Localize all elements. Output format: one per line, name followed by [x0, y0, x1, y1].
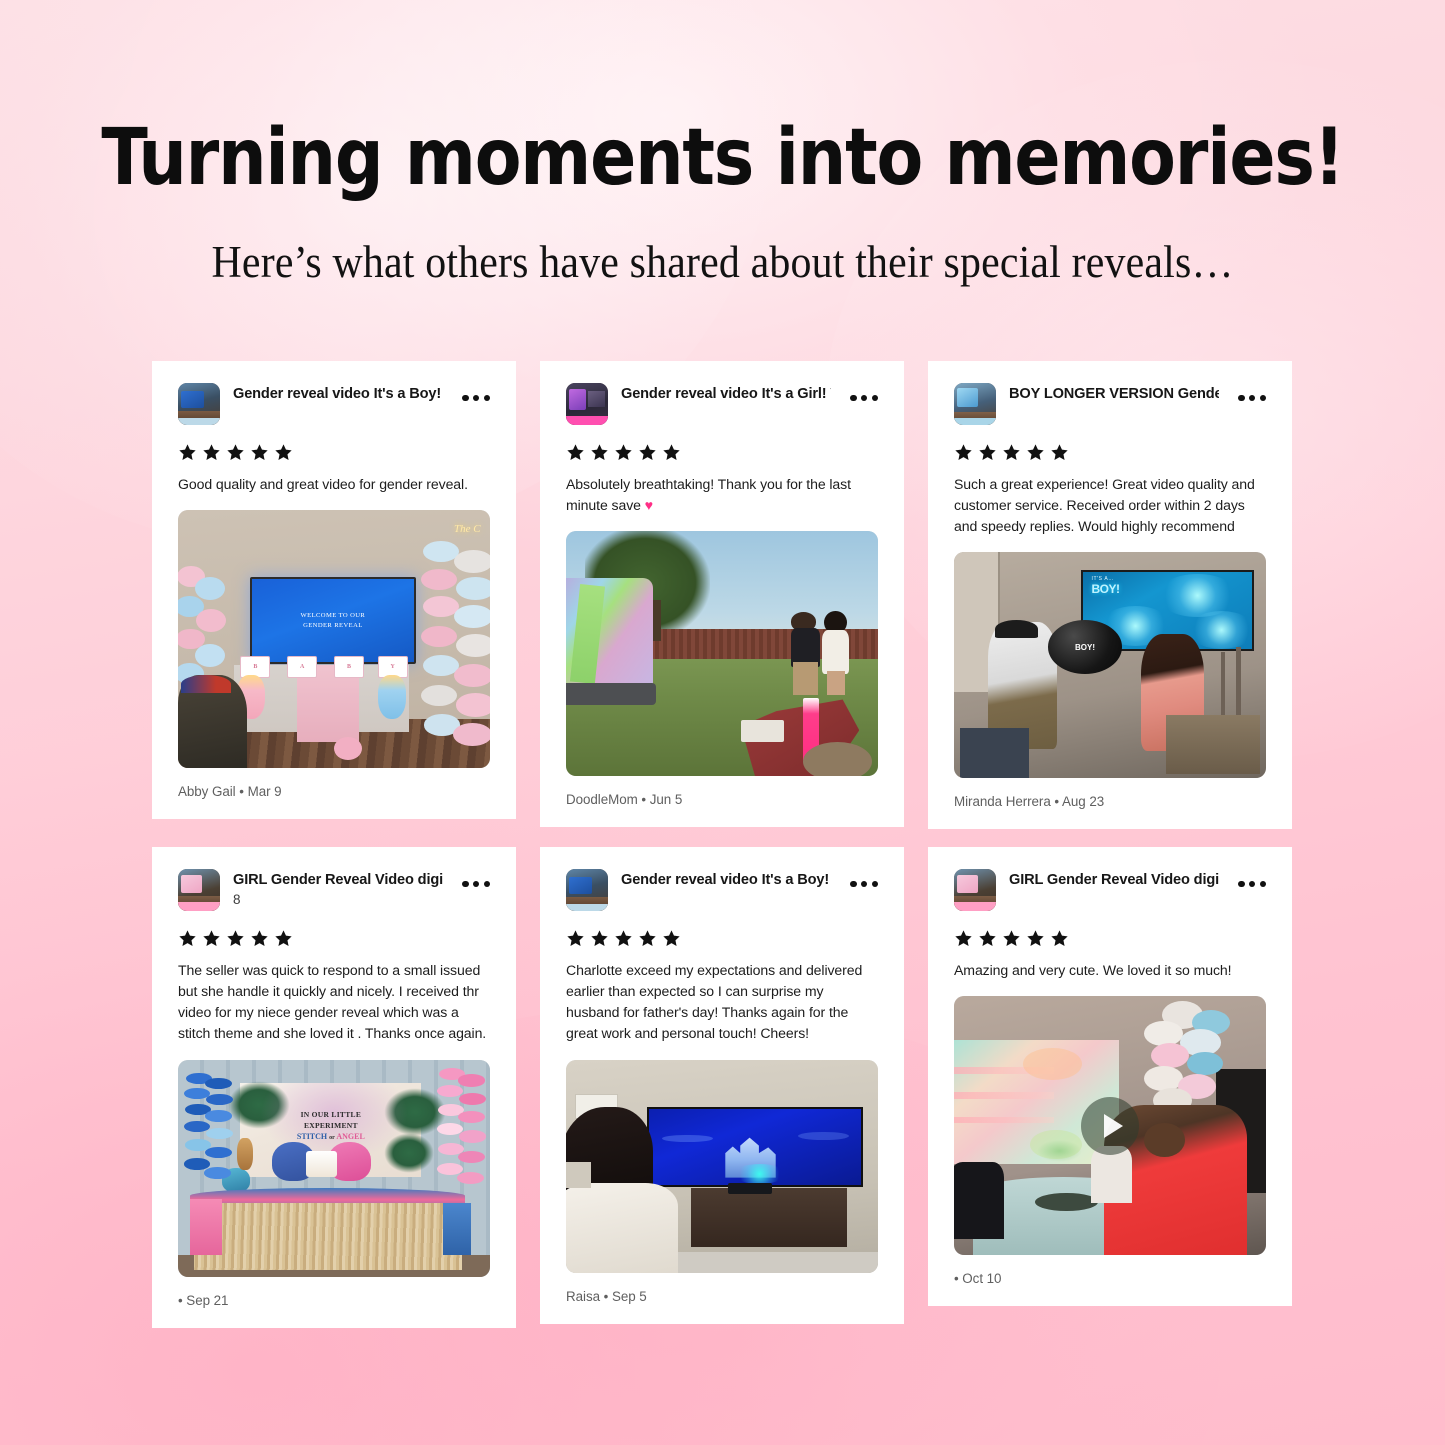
review-meta: Abby Gail • Mar 9	[178, 784, 490, 799]
star-icon	[274, 443, 293, 462]
three-dots-icon[interactable]	[456, 383, 490, 401]
three-dots-icon[interactable]	[844, 869, 878, 887]
star-icon	[1002, 929, 1021, 948]
play-icon[interactable]	[1081, 1097, 1139, 1155]
product-thumbnail	[954, 383, 996, 425]
star-icon	[978, 929, 997, 948]
product-title: Gender reveal video It's a Girl! Vide…	[621, 385, 831, 403]
product-thumbnail	[178, 869, 220, 911]
star-icon	[250, 929, 269, 948]
tv-line-1: WELCOME TO OUR	[301, 612, 366, 619]
three-dots-icon[interactable]	[1232, 869, 1266, 887]
review-meta: Miranda Herrera • Aug 23	[954, 794, 1266, 809]
review-meta: DoodleMom • Jun 5	[566, 792, 878, 807]
product-title: Gender reveal video It's a Boy! Vide…	[621, 871, 831, 889]
page-subtitle: Here’s what others have shared about the…	[51, 238, 1395, 288]
star-rating	[178, 929, 490, 948]
review-video[interactable]	[954, 996, 1266, 1255]
three-dots-icon[interactable]	[456, 869, 490, 887]
product-title: BOY LONGER VERSION Gender …	[1009, 385, 1219, 403]
product-row[interactable]: BOY LONGER VERSION Gender …	[954, 383, 1266, 425]
review-photo[interactable]: IT'S A… BOY! BOY!	[954, 552, 1266, 778]
star-rating	[178, 443, 490, 462]
product-row[interactable]: GIRL Gender Reveal Video digital … 8	[178, 869, 490, 911]
neon-sign-text: The C	[454, 523, 481, 535]
star-icon	[590, 443, 609, 462]
banner-line-1: IN OUR LITTLE	[301, 1110, 362, 1119]
star-icon	[226, 929, 245, 948]
star-icon	[1026, 929, 1045, 948]
product-thumbnail	[566, 383, 608, 425]
product-thumbnail	[954, 869, 996, 911]
review-photo[interactable]: The C WELCOME TO OUR GENDER REVEAL B A B	[178, 510, 490, 768]
product-title: GIRL Gender Reveal Video digital …	[1009, 871, 1219, 889]
tv-boy-text: BOY!	[1091, 582, 1119, 596]
product-subtitle: 8	[233, 890, 443, 910]
product-info: Gender reveal video It's a Girl! Vide…	[621, 383, 831, 403]
product-row[interactable]: Gender reveal video It's a Boy! Vide…	[178, 383, 490, 425]
product-info: GIRL Gender Reveal Video digital … 8	[233, 869, 443, 910]
review-card[interactable]: BOY LONGER VERSION Gender … Such a great…	[928, 361, 1292, 829]
banner-stitch: STITCH	[297, 1132, 327, 1141]
three-dots-icon[interactable]	[1232, 383, 1266, 401]
review-photo[interactable]: IN OUR LITTLE EXPERIMENT STITCH or ANGEL	[178, 1060, 490, 1277]
product-thumbnail	[566, 869, 608, 911]
poster-canvas: Turning moments into memories! Here’s wh…	[0, 0, 1445, 1445]
review-card[interactable]: Gender reveal video It's a Boy! Vide… Go…	[152, 361, 516, 819]
review-meta: • Oct 10	[954, 1271, 1266, 1286]
star-icon	[662, 929, 681, 948]
review-card[interactable]: GIRL Gender Reveal Video digital … Amazi…	[928, 847, 1292, 1306]
review-text: Such a great experience! Great video qua…	[954, 474, 1266, 537]
three-dots-icon[interactable]	[844, 383, 878, 401]
star-rating	[954, 443, 1266, 462]
star-icon	[638, 929, 657, 948]
star-icon	[614, 443, 633, 462]
star-icon	[178, 929, 197, 948]
star-icon	[202, 443, 221, 462]
product-info: Gender reveal video It's a Boy! Vide…	[621, 869, 831, 889]
star-icon	[274, 929, 293, 948]
star-icon	[614, 929, 633, 948]
star-icon	[1002, 443, 1021, 462]
page-title: Turning moments into memories!	[22, 118, 1424, 200]
star-icon	[566, 443, 585, 462]
product-info: BOY LONGER VERSION Gender …	[1009, 383, 1219, 403]
product-row[interactable]: Gender reveal video It's a Girl! Vide…	[566, 383, 878, 425]
review-text: Amazing and very cute. We loved it so mu…	[954, 960, 1266, 981]
star-icon	[1050, 443, 1069, 462]
star-icon	[1050, 929, 1069, 948]
review-meta: • Sep 21	[178, 1293, 490, 1308]
heart-icon: ♥	[645, 497, 653, 513]
review-card[interactable]: GIRL Gender Reveal Video digital … 8 The…	[152, 847, 516, 1328]
star-icon	[638, 443, 657, 462]
star-icon	[662, 443, 681, 462]
banner-line-2: EXPERIMENT	[304, 1121, 358, 1130]
review-text: Good quality and great video for gender …	[178, 474, 490, 495]
review-meta: Raisa • Sep 5	[566, 1289, 878, 1304]
review-text: The seller was quick to respond to a sma…	[178, 960, 490, 1045]
product-row[interactable]: Gender reveal video It's a Boy! Vide…	[566, 869, 878, 911]
product-info: GIRL Gender Reveal Video digital …	[1009, 869, 1219, 889]
star-icon	[250, 443, 269, 462]
star-rating	[954, 929, 1266, 948]
star-icon	[590, 929, 609, 948]
star-icon	[566, 929, 585, 948]
review-text: Charlotte exceed my expectations and del…	[566, 960, 878, 1045]
review-card[interactable]: Gender reveal video It's a Boy! Vide… Ch…	[540, 847, 904, 1324]
star-icon	[178, 443, 197, 462]
tv-line-2: GENDER REVEAL	[303, 622, 363, 629]
star-icon	[1026, 443, 1045, 462]
review-photo[interactable]	[566, 1060, 878, 1273]
product-row[interactable]: GIRL Gender Reveal Video digital …	[954, 869, 1266, 911]
product-title: Gender reveal video It's a Boy! Vide…	[233, 385, 443, 403]
star-icon	[978, 443, 997, 462]
review-card[interactable]: Gender reveal video It's a Girl! Vide… A…	[540, 361, 904, 827]
reviews-grid: Gender reveal video It's a Boy! Vide… Go…	[152, 361, 1293, 1328]
star-icon	[954, 443, 973, 462]
star-icon	[954, 929, 973, 948]
review-photo[interactable]	[566, 531, 878, 776]
star-rating	[566, 443, 878, 462]
balloon-text: BOY!	[1048, 643, 1123, 652]
product-title: GIRL Gender Reveal Video digital …	[233, 871, 443, 889]
star-icon	[202, 929, 221, 948]
product-info: Gender reveal video It's a Boy! Vide…	[233, 383, 443, 403]
poster-header: Turning moments into memories! Here’s wh…	[0, 118, 1445, 287]
review-body: Absolutely breathtaking! Thank you for t…	[566, 476, 851, 513]
product-thumbnail	[178, 383, 220, 425]
star-icon	[226, 443, 245, 462]
review-text: Absolutely breathtaking! Thank you for t…	[566, 474, 878, 516]
banner-or: or	[329, 1135, 335, 1141]
star-rating	[566, 929, 878, 948]
banner-angel: ANGEL	[336, 1132, 364, 1141]
